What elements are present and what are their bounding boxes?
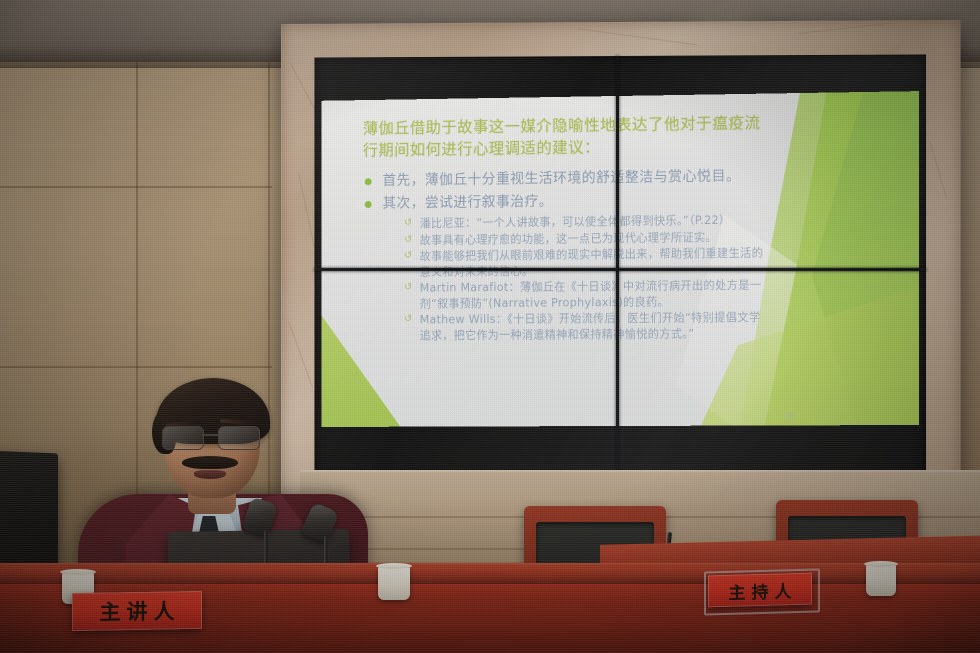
slide-bullet-text: 其次，尝试进行叙事治疗。 xyxy=(382,193,553,211)
video-wall-display: 薄伽丘借助于故事这一媒介隐喻性地表达了他对于瘟疫流行期间如何进行心理调适的建议：… xyxy=(314,54,926,482)
speaker-mouth xyxy=(194,470,226,479)
wall-seam xyxy=(0,366,272,368)
slide-sub-bullet: Mathew Wills：《十日谈》开始流传后，医生们开始“特别提倡文学追求，把… xyxy=(404,310,767,343)
paper-cup[interactable] xyxy=(866,564,896,596)
nameplate-speaker-label: 主讲人 xyxy=(94,595,181,627)
speaker-glasses-icon xyxy=(162,426,262,450)
nameplate-host[interactable]: 主持人 xyxy=(708,573,812,608)
screen-marble-frame: 薄伽丘借助于故事这一媒介隐喻性地表达了他对于瘟疫流行期间如何进行心理调适的建议：… xyxy=(281,20,961,514)
slide-text-body: 薄伽丘借助于故事这一媒介隐喻性地表达了他对于瘟疫流行期间如何进行心理调适的建议：… xyxy=(322,91,919,427)
slide-sub-bullet: Martin Marafiot：薄伽丘在《十日谈》中对流行病开出的处方是一剂“叙… xyxy=(404,278,767,312)
video-wall-bezel-horizontal xyxy=(314,268,926,271)
nameplate-speaker[interactable]: 主讲人 xyxy=(72,591,202,631)
slide-canvas: 薄伽丘借助于故事这一媒介隐喻性地表达了他对于瘟疫流行期间如何进行心理调适的建议：… xyxy=(322,91,919,427)
conference-photo: 薄伽丘借助于故事这一媒介隐喻性地表达了他对于瘟疫流行期间如何进行心理调适的建议：… xyxy=(0,0,980,653)
slide-bullet-text: 首先，薄伽丘十分重视生活环境的舒适整洁与赏心悦目。 xyxy=(382,168,740,189)
wall-seam xyxy=(0,186,272,188)
slide-bullet-list: 首先，薄伽丘十分重视生活环境的舒适整洁与赏心悦目。 其次，尝试进行叙事治疗。 潘… xyxy=(363,166,767,344)
nameplate-host-label: 主持人 xyxy=(723,577,798,604)
slide-sub-bullet-list: 潘比尼亚：“一个人讲故事，可以使全体都得到快乐。”（P.22） 故事具有心理疗愈… xyxy=(382,213,766,344)
speaker-mustache xyxy=(182,456,238,469)
slide-title: 薄伽丘借助于故事这一媒介隐喻性地表达了他对于瘟疫流行期间如何进行心理调适的建议： xyxy=(363,112,767,162)
slide-sub-bullet: 故事能够把我们从眼前艰难的现实中解脱出来，帮助我们重建生活的意义和对未来的信心。 xyxy=(404,246,767,280)
paper-cup[interactable] xyxy=(378,566,410,600)
slide-bullet: 其次，尝试进行叙事治疗。 潘比尼亚：“一个人讲故事，可以使全体都得到快乐。”（P… xyxy=(363,189,767,344)
presentation-slide: 薄伽丘借助于故事这一媒介隐喻性地表达了他对于瘟疫流行期间如何进行心理调适的建议：… xyxy=(322,91,919,427)
slide-page-number: 15 xyxy=(785,412,793,419)
